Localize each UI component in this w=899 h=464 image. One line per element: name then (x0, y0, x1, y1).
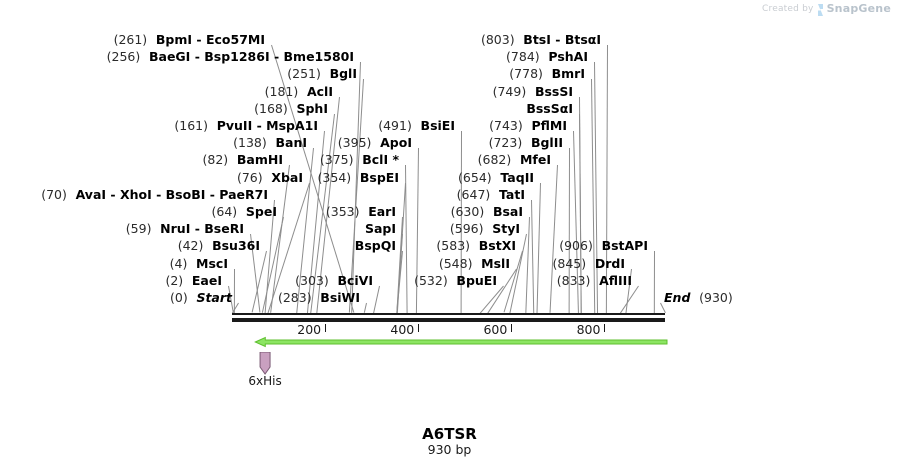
name-separator: - (192, 32, 206, 47)
ruler-tick-label: 400 (372, 322, 414, 337)
enzyme-name: BciVI (337, 273, 373, 288)
cut-position: (59) (126, 221, 152, 236)
enzyme-name: AvaI (76, 187, 106, 202)
enzyme-name: BsiEI (421, 118, 455, 133)
cut-position: (76) (237, 170, 263, 185)
enzyme-label: (303) BciVI (295, 275, 373, 287)
cut-position: (375) (320, 152, 354, 167)
snapgene-watermark: Created by SnapGene (762, 2, 891, 15)
cut-position: (354) (318, 170, 352, 185)
enzyme-label: (395) ApoI (338, 137, 412, 149)
enzyme-label: (261) BpmI - Eco57MI (114, 34, 265, 46)
cut-position: (491) (378, 118, 412, 133)
cut-position: (654) (458, 170, 492, 185)
enzyme-label: (682) MfeI (478, 154, 551, 166)
enzyme-label: (548) MslI (439, 258, 510, 270)
enzyme-name: AclI (307, 84, 333, 99)
ruler-tick-label: 800 (558, 322, 600, 337)
enzyme-label: (181) AclI (265, 86, 333, 98)
cut-position: (845) (553, 256, 587, 271)
cut-position: (784) (506, 49, 540, 64)
cut-position: (723) (489, 135, 523, 150)
enzyme-label: (743) PflMI (489, 120, 567, 132)
enzyme-label: (375) BclI * (320, 154, 399, 166)
cut-position: (353) (326, 204, 360, 219)
enzyme-name: EaeI (192, 273, 222, 288)
enzyme-label: (532) BpuEI (414, 275, 497, 287)
cut-position: (261) (114, 32, 148, 47)
watermark-prefix: Created by (762, 4, 814, 14)
enzyme-label: (168) SphI (254, 103, 328, 115)
enzyme-name: StyI (492, 221, 520, 236)
enzyme-name: BmrI (552, 66, 585, 81)
enzyme-name: MslI (481, 256, 510, 271)
cut-position: (803) (481, 32, 515, 47)
cut-position: (682) (478, 152, 512, 167)
enzyme-name: NruI (160, 221, 190, 236)
end-position: (930) (699, 290, 733, 305)
sequence-length: 930 bp (0, 442, 899, 457)
ruler-tick-label: 600 (465, 322, 507, 337)
enzyme-name: BclI * (362, 152, 399, 167)
ruler-tick (604, 324, 605, 332)
enzyme-label: (833) AflIII (557, 275, 632, 287)
enzyme-label: (647) TatI (457, 189, 525, 201)
enzyme-label: (491) BsiEI (378, 120, 455, 132)
enzyme-name: EarI (368, 204, 396, 219)
cut-position: (161) (174, 118, 208, 133)
enzyme-name: BglII (531, 135, 563, 150)
enzyme-name: MfeI (520, 152, 551, 167)
enzyme-label: BssSαI (526, 103, 573, 115)
cut-position: (596) (450, 221, 484, 236)
enzyme-label: (845) DrdI (553, 258, 625, 270)
leader-line (525, 217, 530, 313)
enzyme-name: SphI (296, 101, 328, 116)
ruler-tick (325, 324, 326, 332)
enzyme-name: Bme1580I (284, 49, 354, 64)
enzyme-label: BspQI (355, 240, 396, 252)
enzyme-name: BtsI (523, 32, 551, 47)
leader-line (373, 286, 380, 313)
cut-position: (2) (165, 273, 183, 288)
enzyme-name: BspEI (360, 170, 399, 185)
name-separator: - (270, 49, 284, 64)
enzyme-label: (64) SpeI (212, 206, 277, 218)
enzyme-name: BglI (330, 66, 357, 81)
name-separator: - (106, 187, 120, 202)
cut-position: (82) (203, 152, 229, 167)
enzyme-name: BstXI (479, 238, 516, 253)
enzyme-name: TatI (499, 187, 525, 202)
enzyme-name: ApoI (380, 135, 412, 150)
enzyme-label: (784) PshAI (506, 51, 588, 63)
cut-position: (181) (265, 84, 299, 99)
page-title: A6TSR (0, 425, 899, 443)
ruler-tick (418, 324, 419, 332)
enzyme-label: (161) PvuII - MspA1I (174, 120, 318, 132)
leader-line (531, 200, 534, 313)
sequence-end-label: End (930) (664, 292, 733, 304)
cut-position: (395) (338, 135, 372, 150)
enzyme-name: MspA1I (266, 118, 318, 133)
enzyme-label: (256) BaeGI - Bsp1286I - Bme1580I (107, 51, 354, 63)
cut-position: (778) (509, 66, 543, 81)
enzyme-name: PaeR7I (219, 187, 268, 202)
leader-line (480, 285, 504, 313)
cut-position: (630) (451, 204, 485, 219)
cut-position: (303) (295, 273, 329, 288)
enzyme-name: BpuEI (456, 273, 497, 288)
cut-position: (647) (457, 187, 491, 202)
enzyme-name: PvuII (217, 118, 253, 133)
enzyme-name: PflMI (531, 118, 567, 133)
leader-line (550, 165, 558, 313)
cut-position: (251) (287, 66, 321, 81)
enzyme-name: MscI (196, 256, 228, 271)
enzyme-name: BtsαI (565, 32, 601, 47)
enzyme-name: TaqII (500, 170, 534, 185)
cut-position: (583) (436, 238, 470, 253)
leader-line (364, 303, 367, 313)
end-name: End (664, 290, 690, 305)
name-separator: - (205, 187, 219, 202)
enzyme-name: BamHI (237, 152, 283, 167)
enzyme-label: (70) AvaI - XhoI - BsoBI - PaeR7I (41, 189, 268, 201)
enzyme-name: BspQI (355, 238, 396, 253)
enzyme-name: BssSαI (526, 101, 573, 116)
cut-position: (256) (107, 49, 141, 64)
enzyme-label: (138) BanI (233, 137, 307, 149)
enzyme-name: Eco57MI (206, 32, 265, 47)
enzyme-name: XhoI (120, 187, 152, 202)
sequence-map: Created by SnapGene (261) BpmI - Eco57MI… (0, 0, 899, 464)
enzyme-name: Bsp1286I (204, 49, 269, 64)
enzyme-name: Start (196, 290, 232, 305)
enzyme-label: (630) BsaI (451, 206, 523, 218)
enzyme-name: BpmI (156, 32, 192, 47)
enzyme-name: PshAI (548, 49, 588, 64)
enzyme-name: SpeI (246, 204, 277, 219)
enzyme-label: (82) BamHI (203, 154, 284, 166)
cut-position: (833) (557, 273, 591, 288)
enzyme-label: (283) BsiWI (278, 292, 360, 304)
ruler-tick-label: 200 (279, 322, 321, 337)
cut-position: (4) (170, 256, 188, 271)
watermark-brand: SnapGene (827, 2, 891, 15)
name-separator: - (190, 49, 204, 64)
enzyme-label: (749) BssSI (493, 86, 573, 98)
name-separator: - (190, 221, 204, 236)
enzyme-label: (2) EaeI (165, 275, 222, 287)
enzyme-name: Bsu36I (212, 238, 260, 253)
enzyme-name: BsaI (493, 204, 523, 219)
enzyme-name: BsiWI (320, 290, 360, 305)
cut-position: (138) (233, 135, 267, 150)
leader-line (654, 251, 655, 313)
enzyme-label: (251) BglI (287, 68, 357, 80)
ruler-tick (511, 324, 512, 332)
name-separator: - (252, 118, 266, 133)
enzyme-label: (778) BmrI (509, 68, 585, 80)
enzyme-label: (354) BspEI (318, 172, 399, 184)
enzyme-label: (353) EarI (326, 206, 396, 218)
enzyme-name: BssSI (535, 84, 573, 99)
cut-position: (532) (414, 273, 448, 288)
enzyme-name: BseRI (204, 221, 244, 236)
name-separator: - (152, 187, 166, 202)
enzyme-label: (59) NruI - BseRI (126, 223, 244, 235)
sequence-line (232, 313, 665, 315)
6xhis-feature (0, 352, 899, 392)
enzyme-label: (906) BstAPI (559, 240, 648, 252)
snapgene-logo-icon (817, 4, 824, 16)
enzyme-name: DrdI (595, 256, 625, 271)
enzyme-label: (583) BstXI (436, 240, 516, 252)
enzyme-name: BstAPI (602, 238, 648, 253)
cut-position: (283) (278, 290, 312, 305)
cut-position: (906) (559, 238, 593, 253)
enzyme-label: (42) Bsu36I (178, 240, 260, 252)
enzyme-name: BanI (275, 135, 307, 150)
leader-line (569, 148, 570, 313)
enzyme-label: (4) MscI (170, 258, 228, 270)
leader-line (536, 183, 541, 313)
enzyme-label: (76) XbaI (237, 172, 303, 184)
enzyme-name: AflIII (599, 273, 632, 288)
cut-position: (0) (170, 290, 188, 305)
enzyme-name: XbaI (271, 170, 303, 185)
cut-position: (64) (212, 204, 238, 219)
enzyme-label: (723) BglII (489, 137, 563, 149)
cut-position: (42) (178, 238, 204, 253)
cut-position: (70) (41, 187, 67, 202)
enzyme-label: (596) StyI (450, 223, 520, 235)
leader-line (416, 148, 419, 313)
enzyme-label: (0) Start (170, 292, 232, 304)
enzyme-name: SapI (365, 221, 396, 236)
enzyme-name: BaeGI (149, 49, 190, 64)
name-separator: - (551, 32, 565, 47)
6xhis-label: 6xHis (225, 374, 305, 388)
cut-position: (743) (489, 118, 523, 133)
enzyme-label: SapI (365, 223, 396, 235)
enzyme-name: BsoBI (166, 187, 206, 202)
enzyme-label: (803) BtsI - BtsαI (481, 34, 601, 46)
cut-position: (168) (254, 101, 288, 116)
cut-position: (548) (439, 256, 473, 271)
cut-position: (749) (493, 84, 527, 99)
enzyme-label: (654) TaqII (458, 172, 534, 184)
